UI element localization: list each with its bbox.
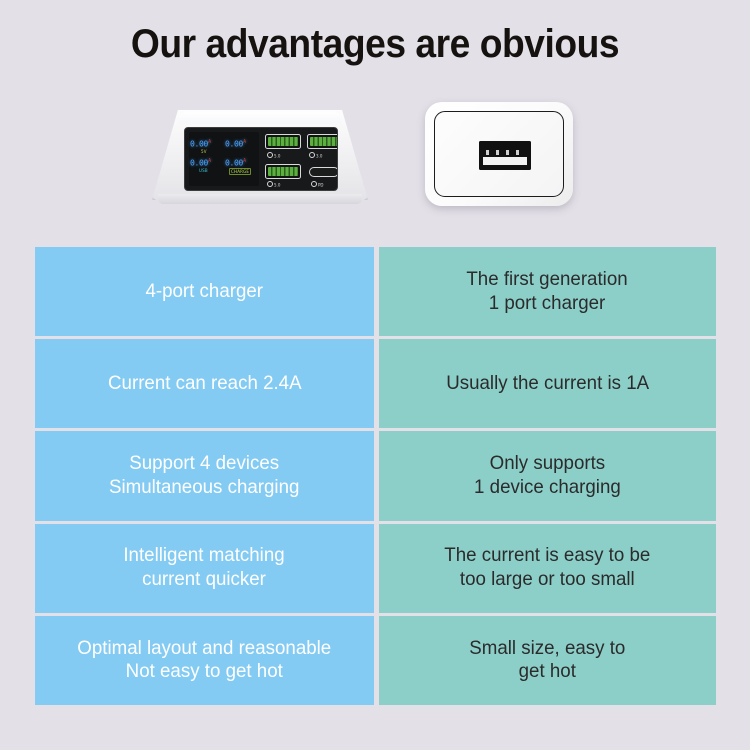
table-row: Current can reach 2.4A Usually the curre… [35,339,716,428]
lcd-reading-4-unit: A [243,158,246,164]
table-row: 4-port charger The first generation 1 po… [35,247,716,336]
cell-text-line-2: current quicker [124,568,285,592]
lcd-reading-3-value: 0.00 [190,159,208,168]
usb-c-port-label: PD [311,181,324,188]
comparison-table: 4-port charger The first generation 1 po… [35,247,716,705]
usb-a-port-2-blade [310,137,338,146]
lcd-reading-2-value: 0.00 [225,140,243,149]
cell-text-line-1: Optimal layout and reasonable [78,637,332,661]
product-images-strip: 0.00A 0.00A 0.00A 0.00A 5V USB CHARGE 5.… [0,92,750,222]
lcd-reading-3-unit: A [208,158,211,164]
lcd-reading-1: 0.00A [190,139,211,149]
usb-a-port-3-blade [268,167,298,176]
lcd-reading-4-value: 0.00 [225,159,243,168]
cell-text-line-2: Simultaneous charging [109,476,299,500]
cell-text-line-1: The first generation [467,268,628,292]
table-row: Support 4 devices Simultaneous charging … [35,431,716,520]
cell-text-line-2: get hot [469,660,625,684]
lcd-reading-4: 0.00A [225,158,246,168]
cell-text-line-1: Only supports [474,452,621,476]
multi-port-charger-image: 0.00A 0.00A 0.00A 0.00A 5V USB CHARGE 5.… [152,110,368,206]
lcd-reading-2: 0.00A [225,139,246,149]
cell-text-line-1: Small size, easy to [469,637,625,661]
comparison-cell-left: Intelligent matching current quicker [35,524,374,613]
cell-text-line-2: 1 device charging [474,476,621,500]
cell-text-line-1: The current is easy to be [444,544,650,568]
table-row: Intelligent matching current quicker The… [35,524,716,613]
usb-a-port-pins [486,150,524,155]
usb-a-port-icon [479,141,531,170]
charger-base [158,194,362,204]
cell-text-line-2: too large or too small [444,568,650,592]
comparison-cell-left: Optimal layout and reasonable Not easy t… [35,616,374,705]
lcd-reading-2-unit: A [243,139,246,145]
single-charger-face [434,111,564,197]
comparison-cell-right: Usually the current is 1A [379,339,716,428]
comparison-cell-right: Small size, easy to get hot [379,616,716,705]
lcd-reading-1-unit: A [208,139,211,145]
page-title: Our advantages are obvious [26,22,724,67]
charger-top-highlight [178,112,342,124]
comparison-cell-right: The first generation 1 port charger [379,247,716,336]
charger-front-panel: 0.00A 0.00A 0.00A 0.00A 5V USB CHARGE 5.… [184,127,338,191]
usb-a-port-1-label: 5.0 [267,152,280,159]
usb-a-port-2-icon [307,134,338,149]
comparison-cell-left: 4-port charger [35,247,374,336]
cell-text-line-1: Usually the current is 1A [446,372,649,396]
comparison-cell-right: Only supports 1 device charging [379,431,716,520]
cell-text-line-2: Not easy to get hot [78,660,332,684]
cell-text-line-2: 1 port charger [467,292,628,316]
usb-a-port-2-label: 3.0 [309,152,322,159]
comparison-cell-left: Current can reach 2.4A [35,339,374,428]
usb-a-port-1-blade [268,137,298,146]
usb-c-port-icon [309,167,338,177]
single-charger-body [425,102,573,206]
usb-a-port-3-label: 5.0 [267,181,280,188]
cell-text-line-1: 4-port charger [146,280,264,304]
lcd-tag-usb: USB [199,168,208,173]
lcd-reading-1-value: 0.00 [190,140,208,149]
comparison-cell-left: Support 4 devices Simultaneous charging [35,431,374,520]
cell-text-line-1: Support 4 devices [109,452,299,476]
usb-a-port-1-icon [265,134,301,149]
single-port-charger-image [425,102,573,206]
usb-a-port-tongue [483,157,527,165]
lcd-tag-voltage: 5V [201,149,207,154]
lcd-reading-3: 0.00A [190,158,211,168]
comparison-cell-right: The current is easy to be too large or t… [379,524,716,613]
usb-a-port-3-icon [265,164,301,179]
table-row: Optimal layout and reasonable Not easy t… [35,616,716,705]
cell-text-line-1: Intelligent matching [124,544,285,568]
lcd-tag-charge: CHARGE [229,168,251,175]
cell-text-line-1: Current can reach 2.4A [108,372,302,396]
